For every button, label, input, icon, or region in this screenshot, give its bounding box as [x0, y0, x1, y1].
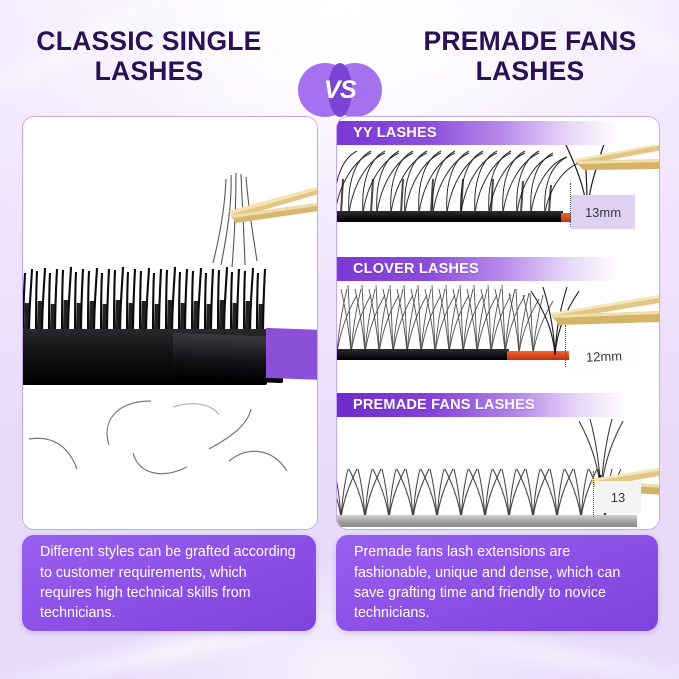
premade-fans-base-bar	[337, 515, 637, 527]
measurement-guide-line	[565, 325, 566, 367]
premade-fans-label-text: PREMADE FANS LASHES	[337, 397, 535, 413]
tweezers-icon	[571, 139, 659, 183]
measurement-guide-line	[593, 471, 594, 517]
classic-single-lashes-panel	[22, 116, 318, 530]
right-caption-box: Premade fans lash extensions are fashion…	[336, 535, 658, 631]
premade-fans-lashes-section: PREMADE FANS LASHES 13	[337, 389, 659, 529]
clover-lashes-label: CLOVER LASHES	[337, 257, 659, 281]
classic-lash-illustration	[23, 117, 317, 529]
clover-measurement-badge: 12mm	[568, 340, 639, 373]
premade-fans-label: PREMADE FANS LASHES	[337, 393, 659, 417]
yy-lash-base-bar	[337, 211, 563, 222]
vs-label: VS	[298, 63, 382, 117]
clover-lash-base-bar	[337, 349, 509, 360]
premade-fans-lashes-panel: YY LASHES 13mm	[336, 116, 660, 530]
left-caption-box: Different styles can be grafted accordin…	[22, 535, 316, 631]
vs-badge: VS	[298, 63, 382, 117]
yy-measurement-badge: 13mm	[571, 195, 635, 229]
left-caption-text: Different styles can be grafted accordin…	[22, 542, 316, 623]
lash-bristle-band	[22, 257, 267, 337]
right-caption-text: Premade fans lash extensions are fashion…	[336, 542, 658, 623]
yy-lashes-label-text: YY LASHES	[337, 125, 437, 141]
clover-lashes-label-text: CLOVER LASHES	[337, 261, 479, 277]
clover-lashes-section: CLOVER LASHES 12mm	[337, 253, 659, 389]
right-heading: PREMADE FANS LASHES	[387, 26, 673, 86]
left-heading: CLASSIC SINGLE LASHES	[6, 26, 292, 86]
yy-lash-fan-art	[337, 143, 581, 213]
premade-measurement-badge: 13	[595, 481, 641, 513]
tweezers-icon	[547, 293, 659, 337]
header: CLASSIC SINGLE LASHES VS PREMADE FANS LA…	[0, 26, 679, 104]
loose-lashes-illustration	[23, 375, 317, 525]
poster-canvas: CLASSIC SINGLE LASHES VS PREMADE FANS LA…	[0, 0, 679, 679]
yy-lashes-label: YY LASHES	[337, 121, 659, 145]
purple-tab	[266, 328, 318, 380]
yy-lashes-section: YY LASHES 13mm	[337, 117, 659, 253]
